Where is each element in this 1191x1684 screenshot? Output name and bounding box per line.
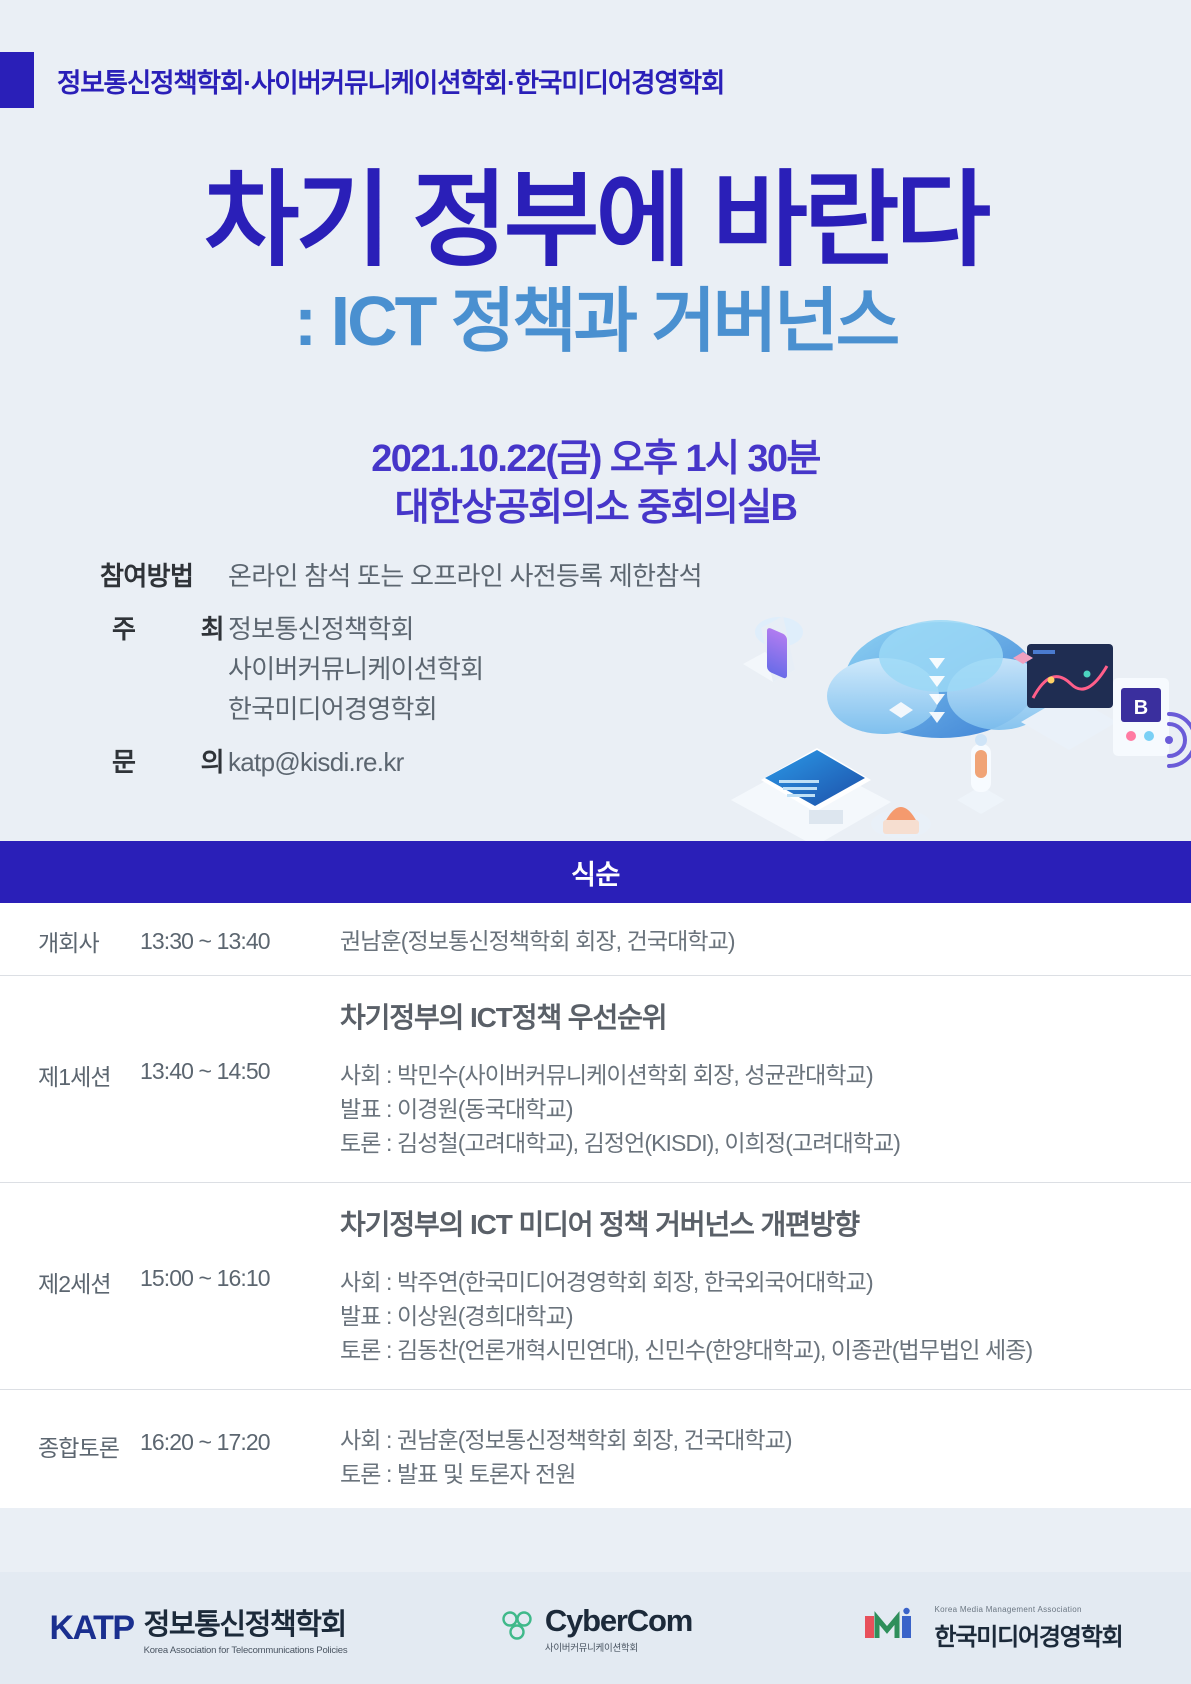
title-block: 차기 정부에 바란다 : ICT 정책과 거버넌스 xyxy=(0,165,1191,360)
info-row-participation: 참여방법 온라인 참석 또는 오프라인 사전등록 제한참석 xyxy=(100,556,860,596)
info-value-participation: 온라인 참석 또는 오프라인 사전등록 제한참석 xyxy=(228,556,702,596)
session-heading: 차기정부의 ICT정책 우선순위 xyxy=(340,996,1191,1036)
logo-kmma: Korea Media Management Association 한국미디어… xyxy=(794,1605,1191,1652)
logo-katp: KATP 정보통신정책학회 Korea Association for Tele… xyxy=(0,1601,397,1656)
schedule-item-body: 사회 : 박주연(한국미디어경영학회 회장, 한국외국어대학교) 발표 : 이상… xyxy=(340,1265,1191,1367)
footer-logos: KATP 정보통신정책학회 Korea Association for Tele… xyxy=(0,1572,1191,1684)
table-row: 차기정부의 ICT 미디어 정책 거버넌스 개편방향 제2세션 15:00 ~ … xyxy=(0,1183,1191,1390)
schedule-item-name: 종합토론 xyxy=(0,1407,140,1463)
event-datetime: 2021.10.22(금) 오후 1시 30분 xyxy=(0,435,1191,484)
kmma-name-wrap: Korea Media Management Association 한국미디어… xyxy=(935,1605,1123,1652)
organizer-header-text: 정보통신정책학회·사이버커뮤니케이션학회·한국미디어경영학회 xyxy=(57,61,724,100)
table-row: 차기정부의 ICT정책 우선순위 제1세션 13:40 ~ 14:50 사회 :… xyxy=(0,976,1191,1183)
svg-text:B: B xyxy=(1134,697,1148,719)
schedule-detail-line: 권남훈(정보통신정책학회 회장, 건국대학교) xyxy=(340,924,1165,958)
schedule-item-time: 15:00 ~ 16:10 xyxy=(140,1265,340,1292)
info-label-host-char2: 최 xyxy=(201,609,224,646)
katp-name-en: Korea Association for Telecommunications… xyxy=(144,1645,348,1656)
contact-email[interactable]: katp@kisdi.re.kr xyxy=(228,742,404,782)
info-label-host: 주 최 xyxy=(100,609,228,646)
session-detail-wrap: 제2세션 15:00 ~ 16:10 사회 : 박주연(한국미디어경영학회 회장… xyxy=(0,1265,1191,1367)
session-heading-wrap: 차기정부의 ICT 미디어 정책 거버넌스 개편방향 xyxy=(0,1203,1191,1243)
program-section-title: 식순 xyxy=(571,853,620,892)
katp-name-wrap: 정보통신정책학회 Korea Association for Telecommu… xyxy=(144,1601,348,1656)
program-section-header: 식순 xyxy=(0,841,1191,903)
schedule-detail-line: 토론 : 김성철(고려대학교), 김정언(KISDI), 이희정(고려대학교) xyxy=(340,1126,1165,1160)
info-label-contact-char1: 문 xyxy=(112,742,135,779)
schedule-item-name: 제1세션 xyxy=(0,1058,140,1092)
kmma-symbol-icon xyxy=(863,1606,925,1651)
event-info-block: 참여방법 온라인 참석 또는 오프라인 사전등록 제한참석 주 최 정보통신정책… xyxy=(100,556,860,795)
schedule-item-name: 개회사 xyxy=(0,924,140,958)
page-title: 차기 정부에 바란다 xyxy=(0,165,1191,277)
info-label-participation: 참여방법 xyxy=(100,556,228,593)
cybercom-glyph-icon xyxy=(499,1609,535,1648)
event-venue: 대한상공회의소 중회의실B xyxy=(0,484,1191,533)
schedule-detail-line: 사회 : 권남훈(정보통신정책학회 회장, 건국대학교) xyxy=(340,1423,1165,1457)
cybercom-name-ko: 사이버커뮤니케이션학회 xyxy=(545,1640,692,1654)
schedule-detail-line: 사회 : 박민수(사이버커뮤니케이션학회 회장, 성균관대학교) xyxy=(340,1058,1165,1092)
schedule-item-time: 13:40 ~ 14:50 xyxy=(140,1058,340,1085)
schedule-item-body: 사회 : 권남훈(정보통신정책학회 회장, 건국대학교) 토론 : 발표 및 토… xyxy=(340,1407,1191,1491)
brand-swatch-icon xyxy=(0,52,34,108)
schedule-detail-line: 토론 : 김동찬(언론개혁시민연대), 신민수(한양대학교), 이종관(법무법인… xyxy=(340,1333,1165,1367)
program-schedule: 개회사 13:30 ~ 13:40 권남훈(정보통신정책학회 회장, 건국대학교… xyxy=(0,903,1191,1508)
schedule-detail-line: 사회 : 박주연(한국미디어경영학회 회장, 한국외국어대학교) xyxy=(340,1265,1165,1299)
event-datetime-block: 2021.10.22(금) 오후 1시 30분 대한상공회의소 중회의실B xyxy=(0,435,1191,532)
schedule-detail-line: 토론 : 발표 및 토론자 전원 xyxy=(340,1457,1165,1491)
schedule-detail-line: 발표 : 이상원(경희대학교) xyxy=(340,1299,1165,1333)
table-row: 개회사 13:30 ~ 13:40 권남훈(정보통신정책학회 회장, 건국대학교… xyxy=(0,907,1191,976)
info-value-host-3: 한국미디어경영학회 xyxy=(228,689,483,729)
cybercom-wordmark: CyberCom xyxy=(545,1603,692,1639)
katp-wordmark-icon: KATP xyxy=(50,1609,134,1648)
page-subtitle: : ICT 정책과 거버넌스 xyxy=(0,283,1191,360)
organizer-header: 정보통신정책학회·사이버커뮤니케이션학회·한국미디어경영학회 xyxy=(0,52,1000,108)
info-value-host-2: 사이버커뮤니케이션학회 xyxy=(228,649,483,689)
info-label-contact: 문 의 xyxy=(100,742,228,779)
session-heading: 차기정부의 ICT 미디어 정책 거버넌스 개편방향 xyxy=(340,1203,1191,1243)
kmma-name-ko: 한국미디어경영학회 xyxy=(935,1617,1123,1652)
schedule-item-body: 사회 : 박민수(사이버커뮤니케이션학회 회장, 성균관대학교) 발표 : 이경… xyxy=(340,1058,1191,1160)
kmma-name-en: Korea Media Management Association xyxy=(935,1605,1123,1614)
schedule-item-body: 권남훈(정보통신정책학회 회장, 건국대학교) xyxy=(340,924,1191,958)
schedule-item-name: 제2세션 xyxy=(0,1265,140,1299)
info-label-contact-char2: 의 xyxy=(201,742,224,779)
session-heading-wrap: 차기정부의 ICT정책 우선순위 xyxy=(0,996,1191,1036)
info-row-contact: 문 의 katp@kisdi.re.kr xyxy=(100,742,860,782)
schedule-item-time: 16:20 ~ 17:20 xyxy=(140,1407,340,1456)
poster-root: 정보통신정책학회·사이버커뮤니케이션학회·한국미디어경영학회 차기 정부에 바란… xyxy=(0,0,1191,1684)
info-value-host-list: 정보통신정책학회 사이버커뮤니케이션학회 한국미디어경영학회 xyxy=(228,609,483,729)
table-row: 종합토론 16:20 ~ 17:20 사회 : 권남훈(정보통신정책학회 회장,… xyxy=(0,1390,1191,1508)
info-label-host-char1: 주 xyxy=(112,609,135,646)
schedule-detail-line: 발표 : 이경원(동국대학교) xyxy=(340,1092,1165,1126)
info-value-host-1: 정보통신정책학회 xyxy=(228,609,483,649)
katp-name-ko: 정보통신정책학회 xyxy=(144,1601,348,1643)
cybercom-name-wrap: CyberCom 사이버커뮤니케이션학회 xyxy=(545,1603,692,1654)
info-row-host: 주 최 정보통신정책학회 사이버커뮤니케이션학회 한국미디어경영학회 xyxy=(100,609,860,729)
schedule-item-time: 13:30 ~ 13:40 xyxy=(140,928,340,955)
logo-cybercom: CyberCom 사이버커뮤니케이션학회 xyxy=(397,1603,794,1654)
session-detail-wrap: 제1세션 13:40 ~ 14:50 사회 : 박민수(사이버커뮤니케이션학회 … xyxy=(0,1058,1191,1160)
